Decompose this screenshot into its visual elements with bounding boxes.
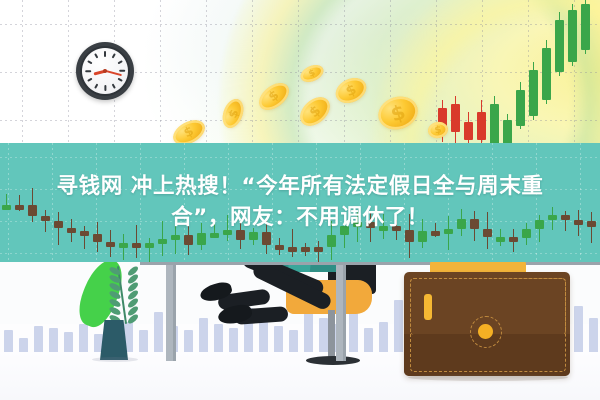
gold-coin: $ [374,92,422,135]
candlestick [2,194,11,209]
news-thumbnail-image: $$$$$$$$ 寻钱网 冲上热搜！“今年所有法定假日全与周末重 合”，网友：不… [0,0,600,400]
candlestick-body [340,226,349,235]
candlestick [314,241,323,262]
candlestick [171,218,180,254]
candlestick [418,219,427,248]
candlestick [210,224,219,238]
candlestick [431,223,440,238]
candlestick-body [41,216,50,221]
candlestick [158,221,167,256]
bar [19,338,28,352]
candlestick-wick [227,215,229,241]
candlestick-body [522,229,531,238]
candlestick-body [15,205,24,210]
band-grid-line-vertical [492,143,493,262]
bar [34,326,43,352]
gold-coin: $ [427,120,449,139]
candlestick-wick [149,238,151,262]
candlestick [548,207,557,229]
bar [64,332,73,352]
candlestick-body [327,235,336,247]
candlestick-body [535,220,544,229]
candlestick-body [405,230,414,242]
candlestick [80,226,89,250]
candlestick-body [574,220,583,225]
candlestick-body [119,243,128,248]
gold-coin: $ [298,62,326,85]
candlestick-wick [136,225,138,258]
candlestick [353,211,362,243]
candlestick [561,211,570,231]
headline-band [0,143,600,262]
candlestick [444,216,453,250]
candlestick [392,220,401,240]
candlestick-body [106,242,115,247]
leather-wallet [404,272,574,380]
wallet-shadow [408,374,568,381]
plant-shadow [92,357,138,362]
candlestick-body [314,247,323,252]
candlestick-body [275,245,284,250]
candlestick [119,234,128,260]
candlestick-body [431,231,440,236]
candlestick [587,212,596,243]
candlestick-body [457,219,466,228]
candlestick [522,223,531,245]
candlestick-body [249,232,258,240]
bar [4,330,13,352]
candlestick [249,228,258,246]
coin-currency-glyph: $ [254,78,294,115]
candlestick-wick [292,229,294,256]
candlestick [132,225,141,258]
candlestick-wick [565,211,567,231]
candlestick-body [561,215,570,220]
candlestick [509,229,518,252]
band-grid-line-vertical [360,143,361,262]
desk-leg-left-shadow [173,265,176,361]
candlestick-body [67,228,76,233]
candlestick-body [587,221,596,228]
candlestick-body [548,215,557,220]
coin-currency-glyph: $ [427,120,449,139]
candlestick [457,209,466,236]
candlestick-body [236,230,245,240]
candlestick [301,243,310,256]
coin-currency-glyph: $ [374,92,422,135]
band-grid-line-horizontal [0,157,600,158]
coin-currency-glyph: $ [295,92,336,132]
candlestick-body [132,243,141,248]
gold-coin: $ [254,78,294,115]
band-grid-line-vertical [52,143,53,262]
gold-coin: $ [332,73,371,108]
candlestick [574,210,583,235]
candlestick [288,229,297,256]
candlestick [275,238,284,255]
candlestick [54,212,63,245]
office-scene [0,262,600,400]
candlestick-body [379,226,388,231]
candlestick-wick [58,212,60,245]
candlestick [327,221,336,260]
band-grid-line-horizontal [0,189,600,190]
candlestick [223,215,232,241]
candlestick [366,213,375,242]
desk-leg-left [166,265,173,361]
band-candlestick-chart [0,143,600,262]
candlestick-body [54,221,63,229]
candlestick [470,211,479,241]
candlestick-body [197,233,206,244]
candlestick-body [392,226,401,231]
bar [49,328,58,352]
candlestick [106,230,115,257]
wallet-clasp-button [478,324,493,339]
candlestick [28,188,37,222]
candlestick-body [80,231,89,236]
candlestick [379,214,388,239]
candlestick [93,222,102,253]
coin-currency-glyph: $ [298,62,326,85]
candlestick-body [288,247,297,252]
laptop [180,262,284,266]
candlestick [340,221,349,248]
gold-coin: $ [295,92,336,132]
candlestick [145,238,154,262]
candlestick-body [210,233,219,238]
desk-leg-right-shadow [343,265,346,361]
candlestick-body [158,239,167,244]
candlestick [405,214,414,258]
candlestick-body [184,235,193,245]
candlestick-body [223,230,232,235]
candlestick [496,229,505,247]
candlestick [184,220,193,255]
candlestick [197,223,206,250]
candlestick-body [366,222,375,227]
candlestick [41,210,50,232]
desk-leg-right [336,265,343,361]
band-grid-line-vertical [272,143,273,262]
candlestick-wick [45,210,47,232]
band-grid-line-horizontal [0,221,600,222]
candlestick-body [93,234,102,242]
candlestick-wick [84,226,86,250]
band-grid-line-vertical [536,143,537,262]
candlestick [67,219,76,242]
candlestick-body [418,231,427,242]
candlestick-body [2,205,11,210]
candlestick [483,212,492,249]
candlestick-body [353,222,362,227]
candlestick-body [28,205,37,216]
candlestick-body [509,237,518,242]
candlestick-body [301,247,310,252]
candlestick-body [483,229,492,237]
band-grid-line-horizontal [0,253,600,254]
candlestick-body [262,232,271,245]
candlestick [535,215,544,242]
band-grid-line-vertical [228,143,229,262]
gold-coin: $ [219,96,247,131]
candlestick-body [145,243,154,248]
candlestick-body [171,235,180,240]
coin-currency-glyph: $ [219,96,247,131]
wallet-card-tab [424,294,432,320]
coin-currency-glyph: $ [332,73,371,108]
plant-vase [100,320,128,360]
candlestick-wick [591,212,593,243]
band-grid-line-vertical [580,143,581,262]
candlestick-body [444,229,453,234]
candlestick [236,222,245,249]
candlestick [262,220,271,254]
candlestick-body [470,219,479,229]
candlestick-body [496,237,505,242]
candlestick [15,195,24,212]
